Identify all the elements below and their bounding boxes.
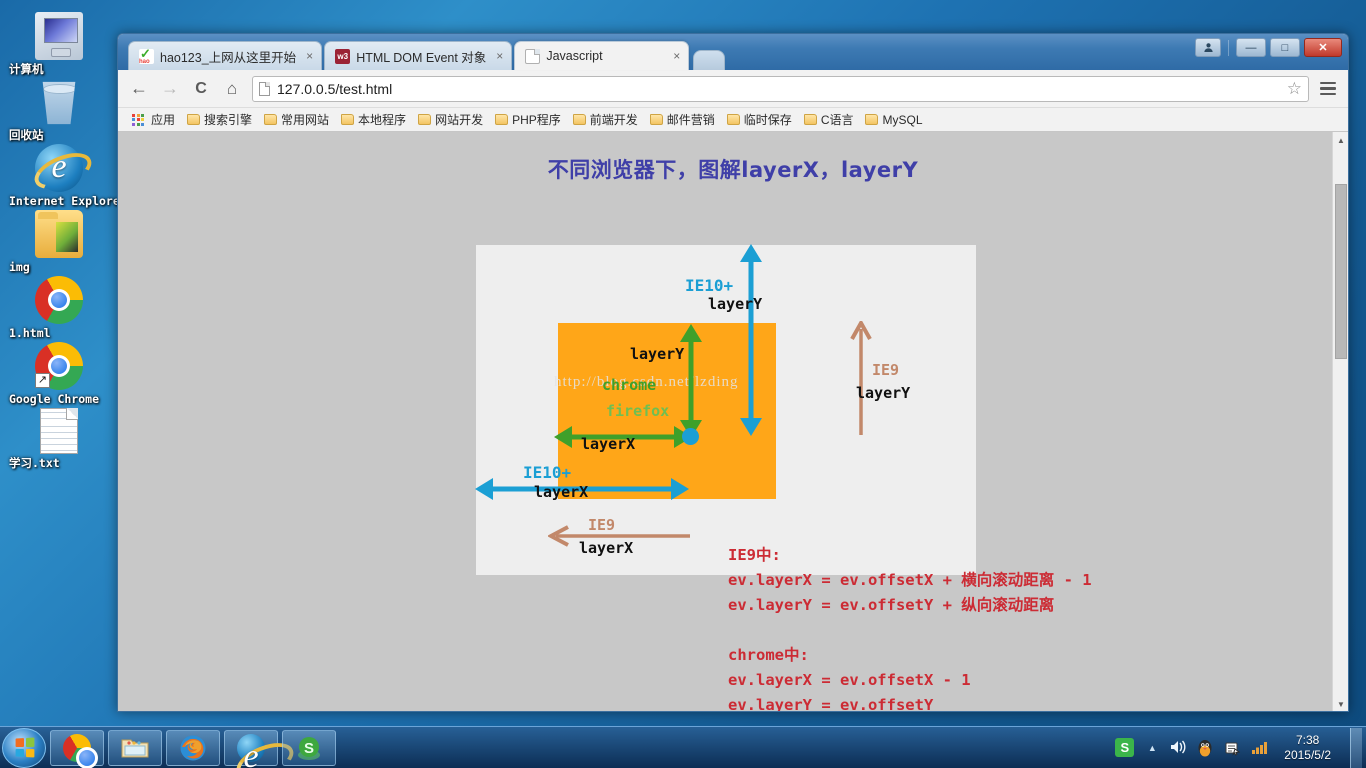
bookmark-label: 本地程序 (358, 111, 406, 128)
bookmark-folder-8[interactable]: C语言 (798, 109, 860, 130)
folder-icon (865, 114, 878, 125)
internet-explorer-icon (237, 734, 265, 762)
taskbar-file-explorer-button[interactable] (108, 730, 162, 766)
chrome-menu-button[interactable] (1318, 79, 1338, 99)
internet-explorer-icon (35, 144, 83, 192)
chrome-shortcut-icon (35, 342, 83, 390)
folder-icon (341, 114, 354, 125)
text-file-icon (40, 408, 78, 454)
reload-button[interactable]: C (190, 78, 212, 100)
chrome-layerx-label: layerX (581, 435, 635, 453)
firefox-browser-label: firefox (606, 402, 669, 420)
bookmarks-bar: 应用 搜索引擎 常用网站 本地程序 网站开发 PHP程序 前端开发 邮件营销 临… (118, 108, 1348, 132)
ie9-note-heading: IE9中: (728, 543, 1092, 568)
bookmark-label: 搜索引擎 (204, 111, 252, 128)
folder-icon (727, 114, 740, 125)
taskbar-chrome-button[interactable] (50, 730, 104, 766)
reload-icon: C (195, 80, 207, 98)
bookmark-folder-2[interactable]: 本地程序 (335, 109, 412, 130)
chrome-browser-label: chrome (602, 376, 656, 394)
tab-title: Javascript (546, 49, 602, 63)
ie9-note-block: IE9中: ev.layerX = ev.offsetX + 横向滚动距离 - … (728, 543, 1092, 618)
cursor-hotspot-dot (682, 428, 699, 445)
scrollbar-thumb[interactable] (1335, 184, 1347, 359)
desktop-icon-label: 计算机 (9, 63, 44, 76)
forward-arrow-icon: → (161, 78, 179, 99)
folder-icon (804, 114, 817, 125)
maximize-button[interactable]: □ (1270, 38, 1300, 57)
bookmark-label: MySQL (882, 113, 922, 127)
shortcut-arrow-icon (35, 373, 50, 388)
browser-toolbar: ← → C ⌂ 127.0.0.5/test.html ☆ (118, 70, 1348, 108)
file-explorer-icon (121, 736, 149, 760)
ie10-layery-label: layerY (708, 295, 762, 313)
folder-icon (418, 114, 431, 125)
url-text: 127.0.0.5/test.html (277, 81, 392, 97)
tab-close-icon[interactable]: × (669, 49, 680, 63)
menu-icon-line (1320, 82, 1336, 85)
page-icon (525, 49, 540, 64)
bookmark-folder-7[interactable]: 临时保存 (721, 109, 798, 130)
tab-title: HTML DOM Event 对象 (356, 47, 486, 66)
scroll-down-button[interactable]: ▼ (1333, 696, 1348, 712)
taskbar-clock[interactable]: 7:38 2015/5/2 (1278, 733, 1341, 763)
tab-close-icon[interactable]: × (492, 49, 503, 63)
chrome-icon (63, 734, 91, 762)
back-button[interactable]: ← (128, 78, 150, 100)
bookmark-folder-6[interactable]: 邮件营销 (644, 109, 721, 130)
bookmark-folder-3[interactable]: 网站开发 (412, 109, 489, 130)
tabstrip: hao123_上网从这里开始 × w3 HTML DOM Event 对象 × … (128, 41, 725, 70)
layer-coordinate-diagram: http://blog.csdn.net/lzding IE10+ layerY… (476, 245, 976, 575)
firefox-icon (179, 734, 207, 762)
folder-icon (35, 210, 83, 258)
user-profile-button[interactable] (1195, 38, 1221, 57)
ie9-layerx-label: layerX (579, 539, 633, 557)
folder-icon (650, 114, 663, 125)
taskbar-skype-button[interactable]: S (282, 730, 336, 766)
close-icon: ✕ (1318, 41, 1327, 54)
recycle-bin-icon (35, 78, 83, 126)
system-tray: S ▲ 7:38 2015/5/2 (1115, 728, 1366, 768)
desktop-icon-google-chrome[interactable]: Google Chrome (9, 342, 109, 390)
page-title: 不同浏览器下，图解layerX，layerY (118, 132, 1348, 184)
folder-icon (573, 114, 586, 125)
taskbar-firefox-button[interactable] (166, 730, 220, 766)
chrome-layery-label: layerY (630, 345, 684, 363)
desktop-icon-label: 1.html (9, 327, 51, 340)
windows-logo-icon (15, 738, 34, 758)
desktop-icon-1-html[interactable]: 1.html (9, 276, 109, 324)
chrome-note-line: ev.layerX = ev.offsetX - 1 (728, 668, 971, 693)
forward-button[interactable]: → (159, 78, 181, 100)
bookmark-folder-4[interactable]: PHP程序 (489, 109, 567, 130)
menu-icon-line (1320, 87, 1336, 90)
ie9-layery-browser-label: IE9 (872, 361, 899, 379)
back-arrow-icon: ← (130, 78, 148, 99)
divider (1228, 40, 1229, 56)
desktop-icon-img-folder[interactable]: img (9, 210, 109, 258)
bookmark-folder-0[interactable]: 搜索引擎 (181, 109, 258, 130)
desktop-icon-label: 回收站 (9, 129, 44, 142)
apps-grid-icon (132, 114, 144, 126)
page-viewport: 不同浏览器下，图解layerX，layerY http://blog.csdn.… (118, 132, 1348, 712)
close-window-button[interactable]: ✕ (1304, 38, 1342, 57)
desktop-icon-recycle-bin[interactable]: 回收站 (9, 78, 109, 126)
ie9-layery-arrow (850, 321, 872, 435)
volume-icon[interactable] (1170, 739, 1188, 757)
desktop-icon-label: 学习.txt (9, 457, 60, 470)
bookmark-label: 邮件营销 (667, 111, 715, 128)
page-info-icon (259, 82, 270, 96)
desktop-icon-computer[interactable]: 计算机 (9, 12, 109, 60)
home-icon: ⌂ (227, 79, 237, 99)
sogou-input-icon[interactable]: S (1115, 738, 1134, 757)
network-signal-icon[interactable] (1251, 739, 1269, 757)
desktop-icon-internet-explorer[interactable]: Internet Explorer (9, 144, 109, 192)
ie9-note-line: ev.layerX = ev.offsetX + 横向滚动距离 - 1 (728, 568, 1092, 593)
start-button[interactable] (2, 728, 46, 768)
ie10-layery-arrow (738, 244, 764, 436)
bookmark-label: 临时保存 (744, 111, 792, 128)
hao123-icon (139, 49, 154, 64)
browser-window: hao123_上网从这里开始 × w3 HTML DOM Event 对象 × … (117, 33, 1349, 712)
minimize-icon: — (1246, 42, 1257, 54)
computer-icon (35, 12, 83, 60)
taskbar: S S ▲ 7:38 2015/5/2 (0, 726, 1366, 768)
show-hidden-icons-button[interactable]: ▲ (1143, 739, 1161, 757)
minimize-button[interactable]: — (1236, 38, 1266, 57)
bookmark-apps[interactable]: 应用 (126, 109, 181, 130)
ie9-note-line: ev.layerY = ev.offsetY + 纵向滚动距离 (728, 593, 1092, 618)
folder-icon (495, 114, 508, 125)
bookmark-label: 网站开发 (435, 111, 483, 128)
w3school-icon: w3 (335, 49, 350, 64)
ie10-layerx-label: layerX (534, 483, 588, 501)
new-tab-button[interactable] (693, 50, 725, 70)
address-bar[interactable]: 127.0.0.5/test.html ☆ (252, 76, 1309, 102)
user-icon (1203, 42, 1214, 53)
show-desktop-button[interactable] (1350, 728, 1362, 768)
window-controls: — □ ✕ (1195, 38, 1342, 57)
bookmark-folder-9[interactable]: MySQL (859, 111, 928, 129)
bookmark-star-icon[interactable]: ☆ (1287, 79, 1302, 99)
tab-title: hao123_上网从这里开始 (160, 47, 296, 66)
maximize-icon: □ (1282, 42, 1289, 54)
security-shield-icon[interactable] (1224, 739, 1242, 757)
clock-time: 7:38 (1284, 733, 1331, 748)
chrome-document-icon (35, 276, 83, 324)
tab-close-icon[interactable]: × (302, 49, 313, 63)
desktop-icon-label: img (9, 261, 30, 274)
desktop-icon-area: 计算机 回收站 Internet Explorer img 1.html Goo… (0, 0, 118, 720)
bookmark-label: 前端开发 (590, 111, 638, 128)
scroll-up-button[interactable]: ▲ (1333, 132, 1348, 149)
skype-icon: S (295, 735, 323, 761)
desktop-icon-label: Internet Explorer (9, 195, 127, 208)
folder-icon (187, 114, 200, 125)
bookmark-folder-5[interactable]: 前端开发 (567, 109, 644, 130)
chrome-layery-arrow (679, 324, 703, 438)
menu-icon-line (1320, 93, 1336, 96)
chrome-note-block: chrome中: ev.layerX = ev.offsetX - 1 ev.l… (728, 643, 971, 712)
bookmark-folder-1[interactable]: 常用网站 (258, 109, 335, 130)
bookmark-label: 应用 (151, 111, 175, 128)
taskbar-internet-explorer-button[interactable] (224, 730, 278, 766)
ie10-layery-browser-label: IE10+ (685, 276, 733, 295)
chrome-note-line: ev.layerY = ev.offsetY (728, 693, 971, 712)
tab-bar: hao123_上网从这里开始 × w3 HTML DOM Event 对象 × … (118, 34, 1348, 70)
svg-text:S: S (304, 740, 314, 757)
ie10-layerx-browser-label: IE10+ (523, 463, 571, 482)
bookmark-label: PHP程序 (512, 111, 561, 128)
home-button[interactable]: ⌂ (221, 78, 243, 100)
chrome-note-heading: chrome中: (728, 643, 971, 668)
desktop-icon-label: Google Chrome (9, 393, 99, 406)
clock-date: 2015/5/2 (1284, 748, 1331, 763)
desktop-icon-study-txt[interactable]: 学习.txt (9, 408, 109, 454)
vertical-scrollbar[interactable]: ▲ ▼ (1332, 132, 1348, 712)
ie9-layerx-browser-label: IE9 (588, 516, 615, 534)
bookmark-label: C语言 (821, 111, 854, 128)
ie9-layery-label: layerY (856, 384, 910, 402)
bookmark-label: 常用网站 (281, 111, 329, 128)
folder-icon (264, 114, 277, 125)
tab-javascript[interactable]: Javascript × (514, 41, 689, 70)
qq-icon[interactable] (1197, 739, 1215, 757)
tab-html-dom-event[interactable]: w3 HTML DOM Event 对象 × (324, 41, 512, 70)
tab-hao123[interactable]: hao123_上网从这里开始 × (128, 41, 322, 70)
